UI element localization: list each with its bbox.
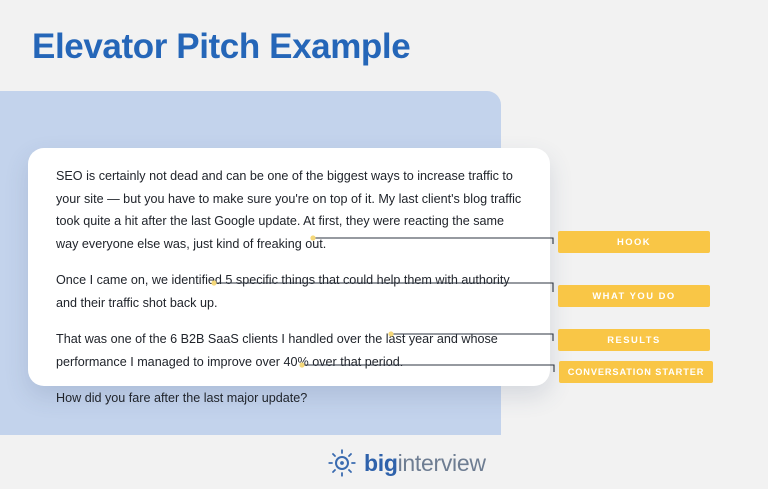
- logo-word-big: big: [364, 450, 398, 476]
- pitch-card-body: SEO is certainly not dead and can be one…: [56, 165, 526, 410]
- pitch-paragraph-hook: SEO is certainly not dead and can be one…: [56, 165, 526, 255]
- page-title: Elevator Pitch Example: [32, 28, 410, 67]
- badge-what-you-do[interactable]: WHAT YOU DO: [558, 285, 710, 307]
- sun-icon: [327, 448, 357, 478]
- biginterview-logo: biginterview: [327, 448, 486, 478]
- slide-canvas: Elevator Pitch Example SEO is certainly …: [0, 0, 768, 489]
- badge-conversation-starter[interactable]: CONVERSATION STARTER: [559, 361, 713, 383]
- pitch-card: SEO is certainly not dead and can be one…: [28, 148, 550, 386]
- logo-word-interview: interview: [398, 450, 486, 476]
- pitch-paragraph-results: That was one of the 6 B2B SaaS clients I…: [56, 328, 526, 373]
- logo-wordmark: biginterview: [364, 452, 486, 475]
- pitch-paragraph-conversation-starter: How did you fare after the last major up…: [56, 387, 526, 410]
- pitch-paragraph-what-you-do: Once I came on, we identified 5 specific…: [56, 269, 526, 314]
- badge-hook[interactable]: HOOK: [558, 231, 710, 253]
- badge-results[interactable]: RESULTS: [558, 329, 710, 351]
